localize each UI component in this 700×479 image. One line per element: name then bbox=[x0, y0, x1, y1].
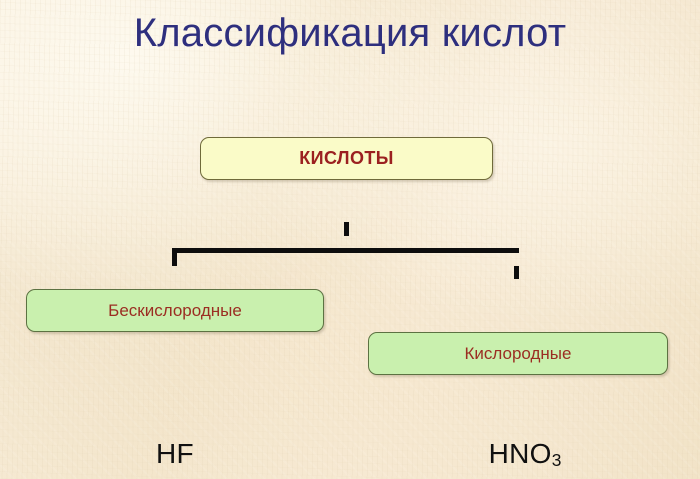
diagram-node-acids: КИСЛОТЫ bbox=[200, 137, 493, 180]
page-title: Классификация кислот bbox=[0, 9, 700, 57]
formula-column-anoxic: HFHClHBrHIH2S bbox=[0, 427, 350, 479]
diagram-node-anoxic-acids: Бескислородные bbox=[26, 289, 324, 332]
diagram-node-oxygen-acids-label: Кислородные bbox=[465, 344, 572, 364]
connector-horizontal-bar bbox=[172, 248, 519, 253]
formula-columns: HFHClHBrHIH2S HNO3H2SO4H2SiO3H2CO3H3PO4 bbox=[0, 427, 700, 479]
formula-element: HF bbox=[156, 438, 194, 469]
diagram-node-oxygen-acids: Кислородные bbox=[368, 332, 668, 375]
formula-item: HF bbox=[156, 427, 194, 479]
formula-column-oxygen: HNO3H2SO4H2SiO3H2CO3H3PO4 bbox=[350, 427, 700, 479]
diagram-node-acids-label: КИСЛОТЫ bbox=[299, 148, 394, 169]
slide-canvas: Классификация кислот КИСЛОТЫ Бескислород… bbox=[0, 0, 700, 479]
formula-item: HNO3 bbox=[489, 427, 562, 479]
diagram-node-anoxic-acids-label: Бескислородные bbox=[108, 301, 242, 321]
formula-element: HNO bbox=[489, 438, 552, 469]
connector-right-drop bbox=[514, 266, 519, 279]
connector-left-drop bbox=[172, 253, 177, 266]
connector-stem bbox=[344, 222, 349, 236]
formula-subscript: 3 bbox=[552, 450, 562, 470]
